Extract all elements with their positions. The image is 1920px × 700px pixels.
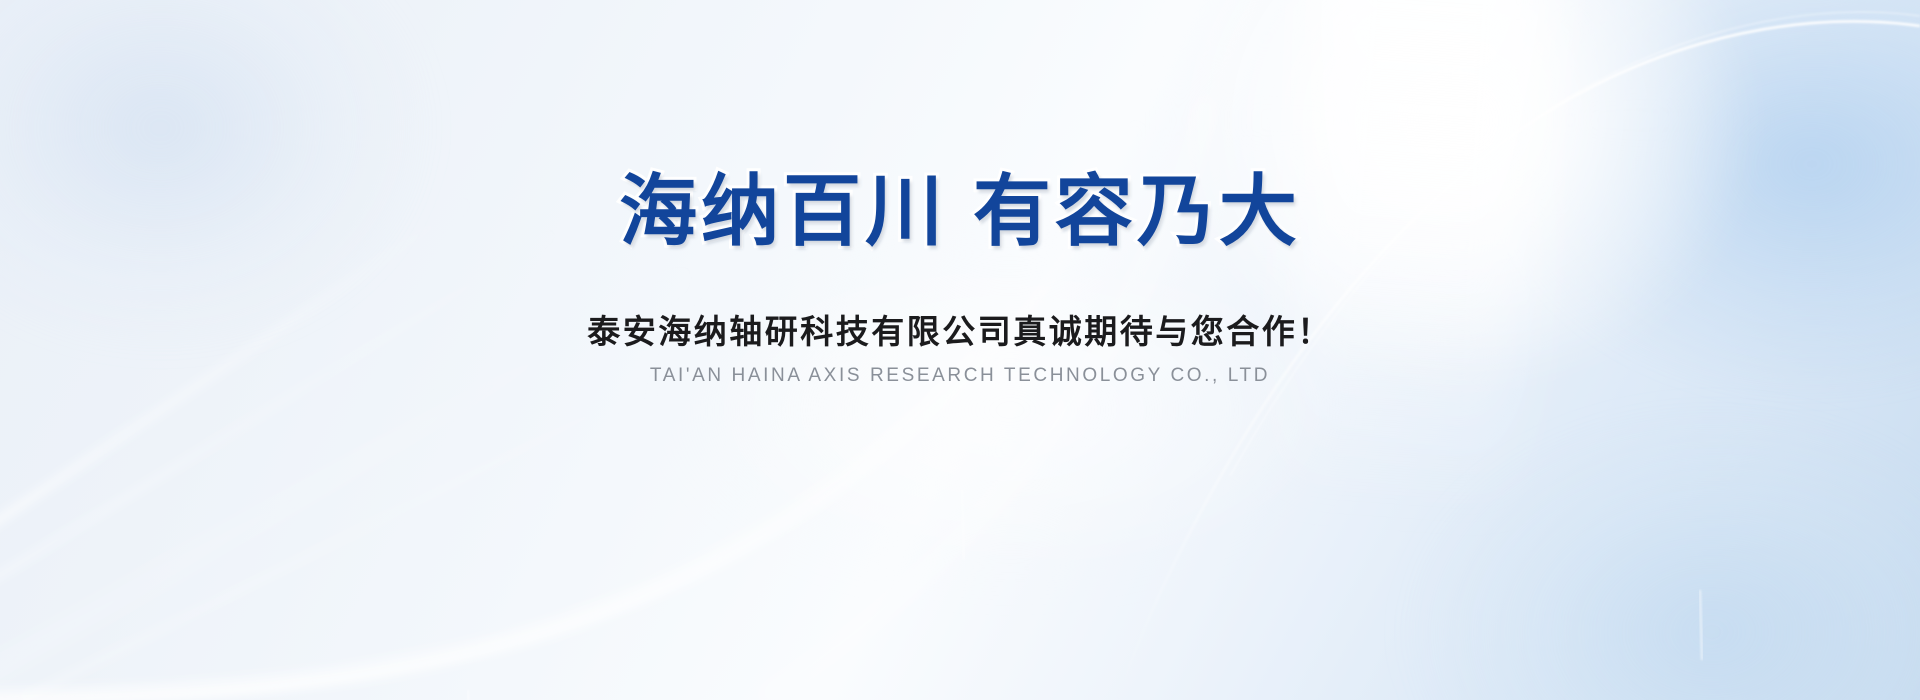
sliver-2	[1700, 590, 1702, 660]
banner-subtitle-chinese: 泰安海纳轴研科技有限公司真诚期待与您合作！	[0, 310, 1920, 354]
banner-headline: 海纳百川 有容乃大	[0, 168, 1920, 254]
streak-2	[0, 230, 560, 612]
bottom-swoosh-inner	[0, 352, 976, 690]
sliver-3	[962, 490, 964, 560]
top-right-arc	[1118, 21, 1920, 700]
sliver-1	[468, 690, 472, 700]
banner-subtitle-english: TAI'AN HAINA AXIS RESEARCH TECHNOLOGY CO…	[0, 363, 1920, 389]
hero-banner: 海纳百川 有容乃大 泰安海纳轴研科技有限公司真诚期待与您合作！ TAI'AN H…	[0, 0, 1920, 700]
